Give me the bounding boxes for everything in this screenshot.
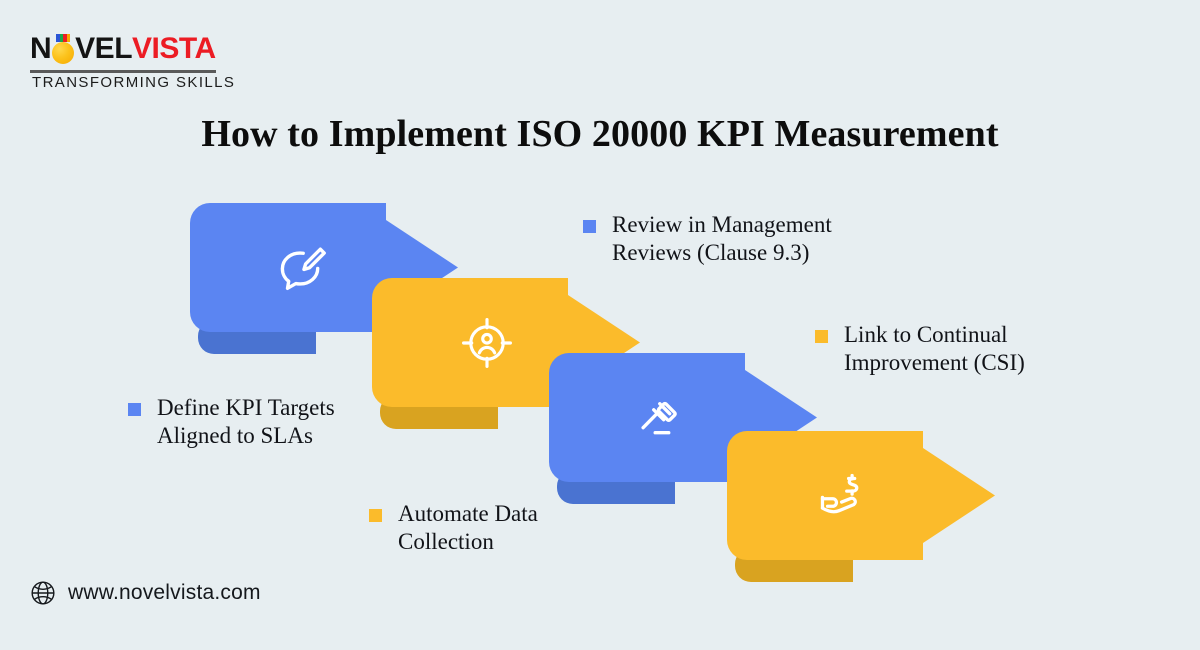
step-label-1: Define KPI Targets Aligned to SLAs bbox=[128, 394, 428, 449]
step-label-2: Automate Data Collection bbox=[369, 500, 649, 555]
logo-word-part3: VISTA bbox=[132, 34, 216, 64]
website-url[interactable]: www.novelvista.com bbox=[68, 581, 261, 605]
logo-divider bbox=[30, 70, 216, 73]
step-label-3-text: Review in Management Reviews (Clause 9.3… bbox=[612, 211, 832, 266]
step-label-1-text: Define KPI Targets Aligned to SLAs bbox=[157, 394, 335, 449]
infographic-canvas: N VEL VISTA TRANSFORMING SKILLS How to I… bbox=[0, 0, 1200, 650]
step-arrow-4[interactable] bbox=[727, 431, 997, 560]
step-bullet-3 bbox=[583, 220, 596, 233]
novelvista-logo[interactable]: N VEL VISTA TRANSFORMING SKILLS bbox=[30, 30, 216, 86]
step-arrow-4-body bbox=[727, 431, 997, 560]
logo-word-part1: N bbox=[30, 34, 51, 64]
page-title: How to Implement ISO 20000 KPI Measureme… bbox=[0, 112, 1200, 156]
step-bullet-2 bbox=[369, 509, 382, 522]
step-label-4: Link to Continual Improvement (CSI) bbox=[815, 321, 1125, 376]
step-label-2-text: Automate Data Collection bbox=[398, 500, 538, 555]
step-bullet-1 bbox=[128, 403, 141, 416]
step-label-4-text: Link to Continual Improvement (CSI) bbox=[844, 321, 1025, 376]
step-bullet-4 bbox=[815, 330, 828, 343]
footer[interactable]: www.novelvista.com bbox=[30, 580, 261, 606]
lightbulb-cap bbox=[56, 34, 70, 42]
lightbulb-icon bbox=[51, 34, 75, 64]
logo-word-part2: VEL bbox=[75, 34, 132, 64]
logo-wordmark: N VEL VISTA bbox=[30, 30, 216, 64]
logo-tagline: TRANSFORMING SKILLS bbox=[32, 74, 235, 91]
globe-icon bbox=[30, 580, 56, 606]
step-label-3: Review in Management Reviews (Clause 9.3… bbox=[583, 211, 913, 266]
lightbulb-globe bbox=[52, 42, 74, 64]
